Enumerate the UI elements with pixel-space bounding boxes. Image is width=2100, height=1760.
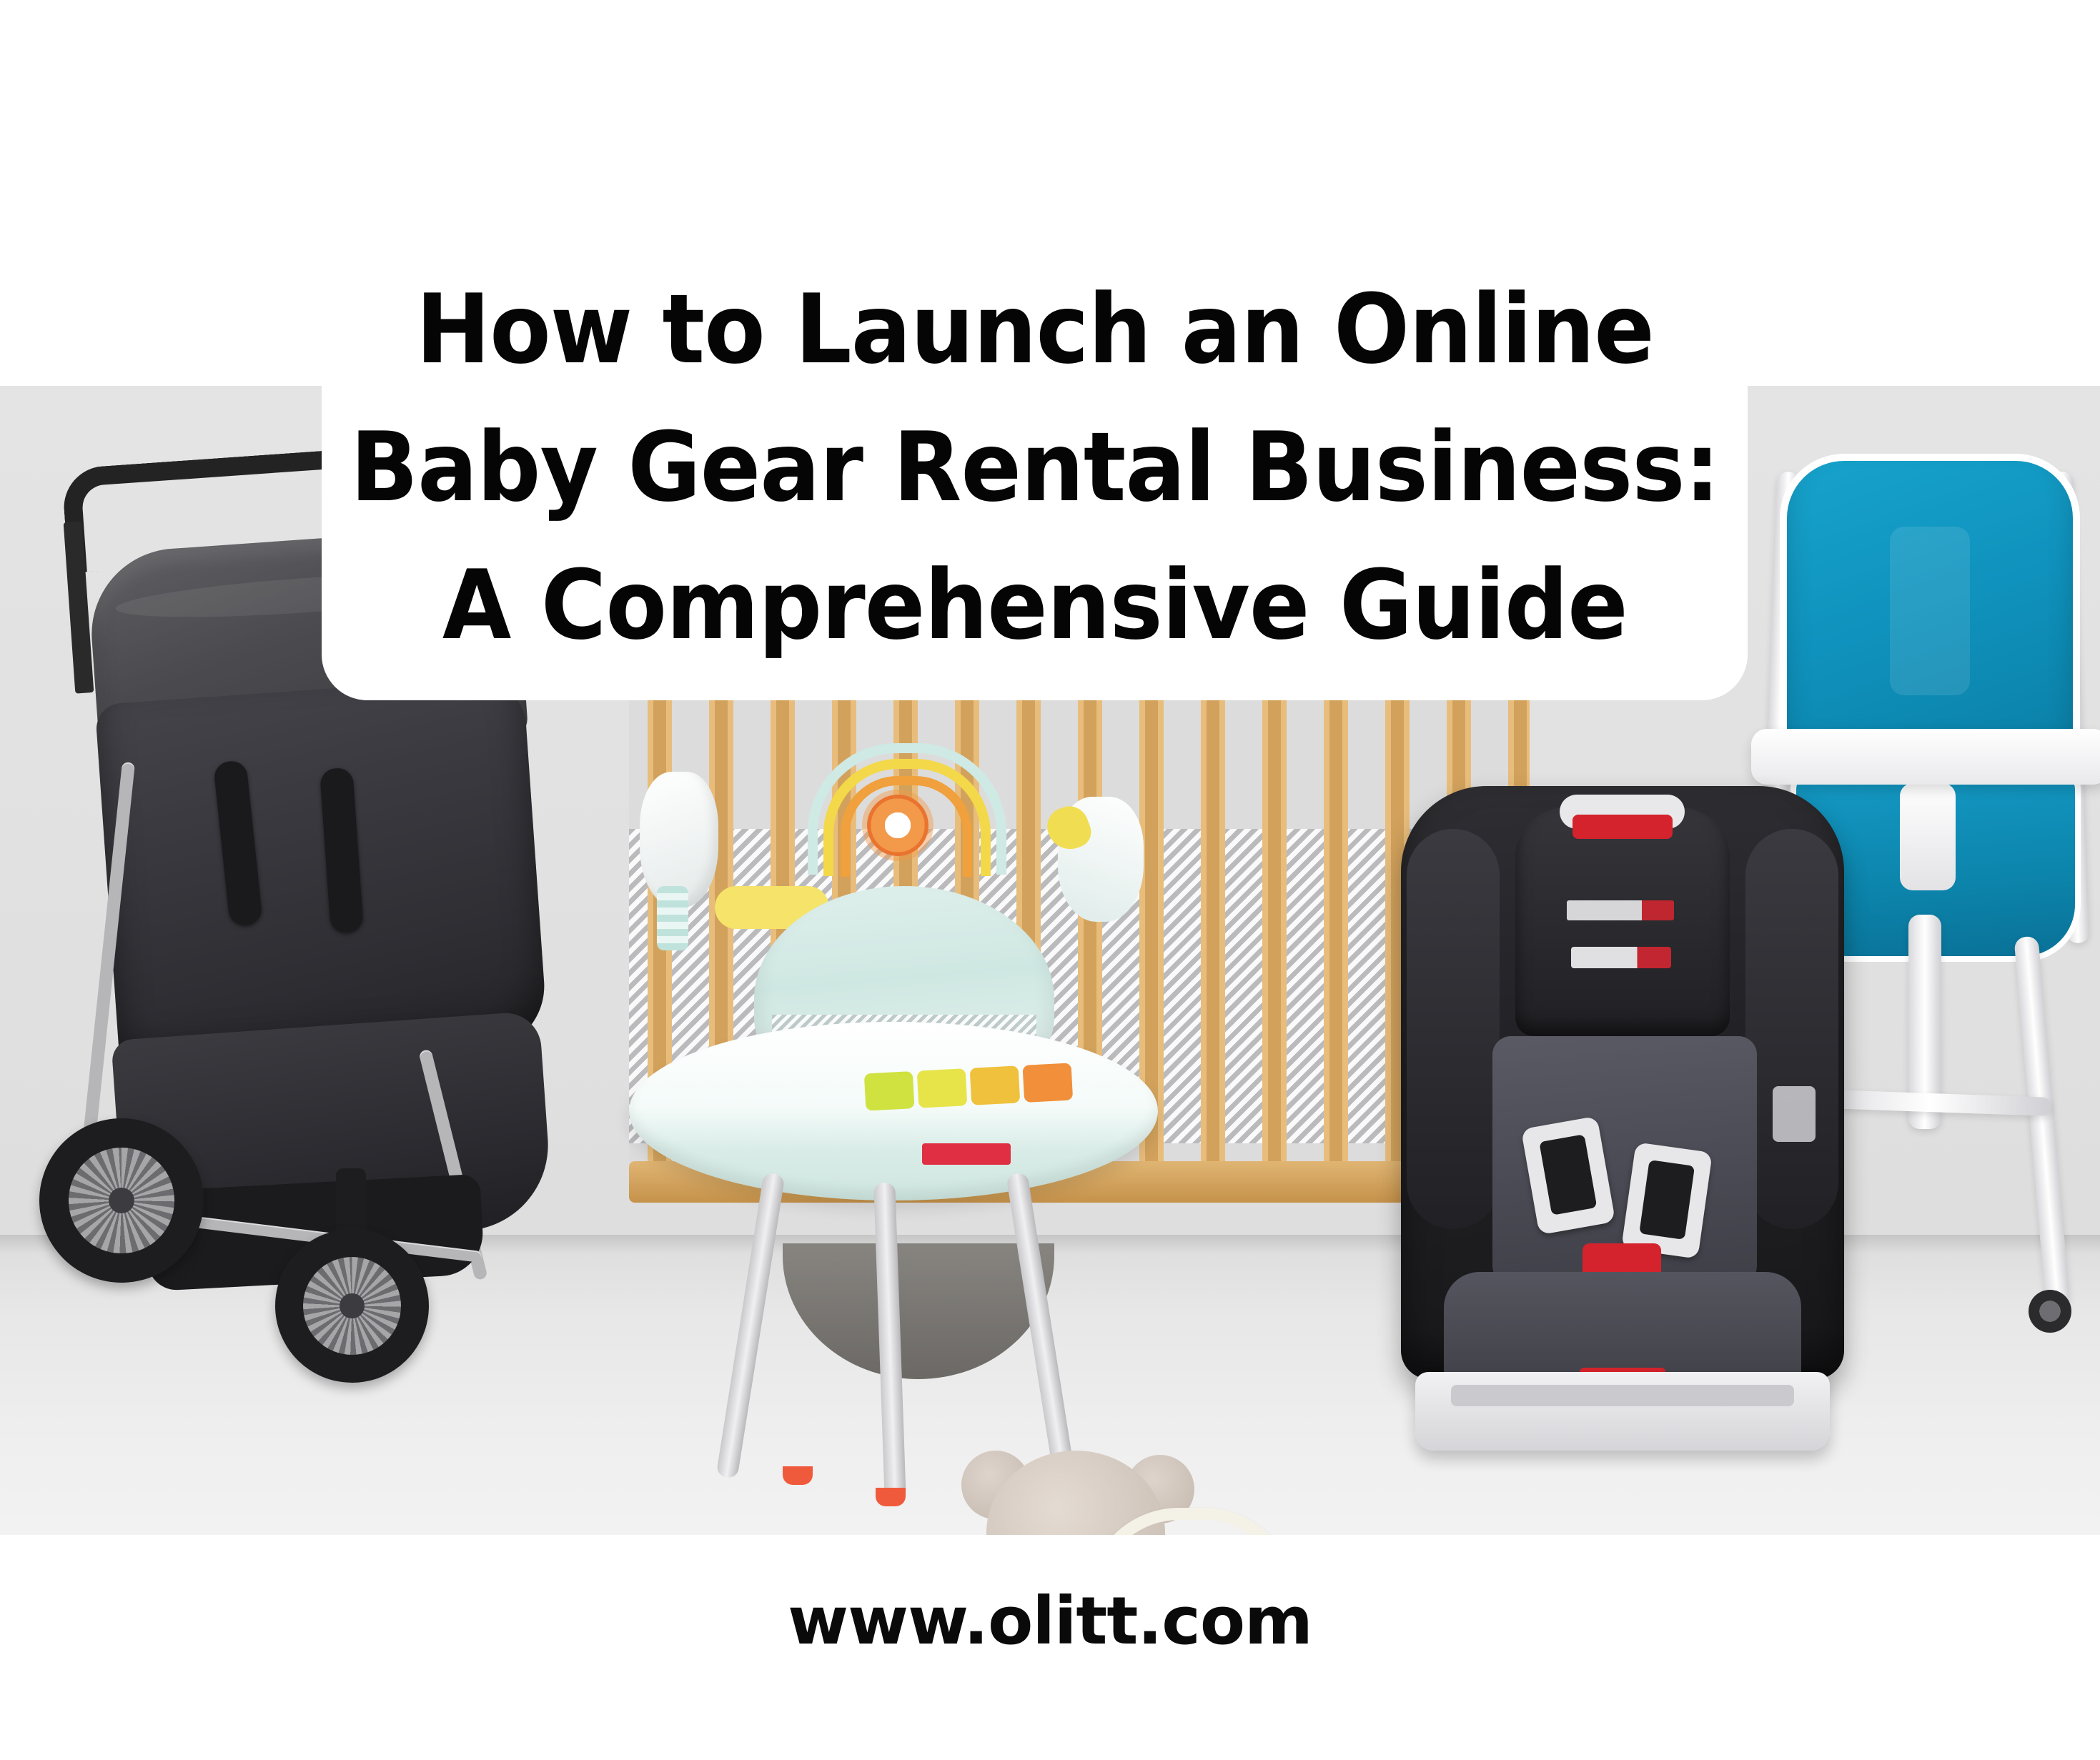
tote-bag-handle-front <box>1086 1508 1297 1535</box>
footer-website-url[interactable]: www.olitt.com <box>0 1583 2100 1659</box>
car-seat-headrest <box>1515 807 1730 1036</box>
activity-toy-right <box>1058 797 1144 922</box>
tote-bag: BabyQuip <box>1001 1508 1351 1535</box>
high-chair-tray <box>1751 729 2100 785</box>
car-seat-red-release <box>1572 815 1673 839</box>
stroller-front-wheel <box>275 1229 429 1383</box>
car-seat-base-bar <box>1451 1385 1794 1406</box>
high-chair-leg-right <box>2014 936 2070 1308</box>
activity-foot <box>783 1466 813 1485</box>
car-seat <box>1401 786 1844 1451</box>
high-chair-back-pad <box>1780 454 2080 768</box>
car-seat-harness-buckle <box>1621 1142 1713 1259</box>
page-title: How to Launch an Online Baby Gear Rental… <box>350 261 1719 675</box>
stroller-rear-wheel <box>39 1118 204 1283</box>
activity-center <box>629 743 1158 1501</box>
car-seat-brand-label <box>1567 900 1674 920</box>
title-card: How to Launch an Online Baby Gear Rental… <box>322 0 1748 700</box>
activity-leg <box>716 1172 786 1478</box>
car-seat-side-wing <box>1407 829 1500 1229</box>
title-line-2: Baby Gear Rental Business: <box>350 399 1719 537</box>
title-line-1: How to Launch an Online <box>350 261 1719 399</box>
car-seat-side-icon <box>1773 1086 1816 1142</box>
activity-brand-badge <box>922 1143 1011 1165</box>
car-seat-side-wing <box>1745 829 1838 1229</box>
activity-foot <box>876 1488 906 1506</box>
activity-tray <box>629 1022 1158 1200</box>
high-chair-caster <box>2029 1290 2071 1333</box>
high-chair-crotch-post <box>1900 783 1956 890</box>
car-seat-model-label <box>1571 947 1671 968</box>
car-seat-base <box>1415 1372 1830 1451</box>
title-line-3: A Comprehensive Guide <box>350 537 1719 675</box>
activity-lower-sling <box>783 1243 1054 1379</box>
activity-toy-left <box>640 772 718 908</box>
sun-toy-icon <box>867 795 928 856</box>
